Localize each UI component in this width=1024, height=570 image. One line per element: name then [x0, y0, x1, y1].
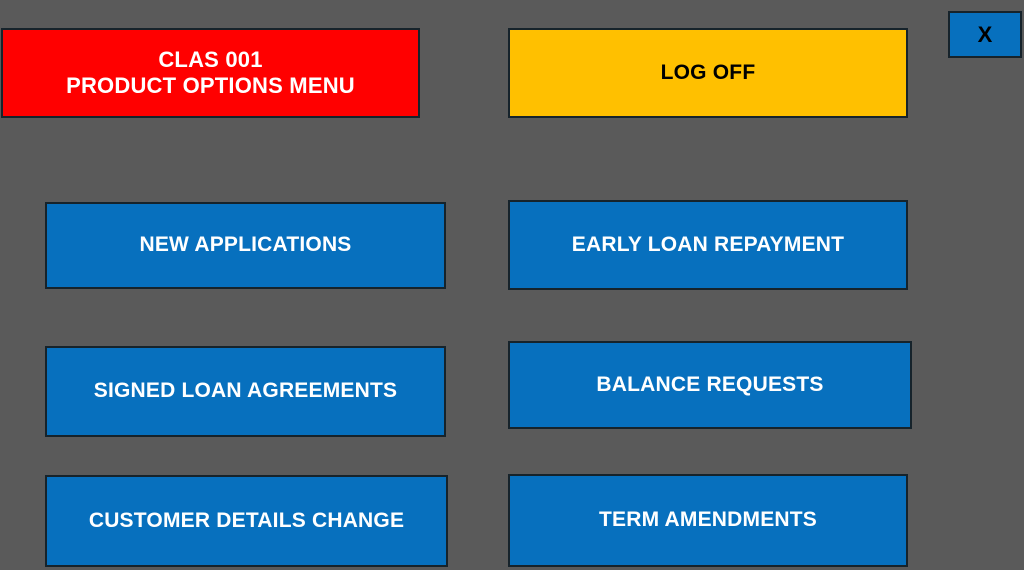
close-button[interactable]: X: [948, 11, 1022, 58]
menu-button-label: CUSTOMER DETAILS CHANGE: [89, 509, 404, 534]
menu-button-label: BALANCE REQUESTS: [596, 373, 823, 398]
menu-button-early-loan-repayment[interactable]: EARLY LOAN REPAYMENT: [508, 200, 908, 290]
product-options-menu-screen: CLAS 001 PRODUCT OPTIONS MENU LOG OFF X …: [0, 0, 1024, 570]
screen-code-label: CLAS 001: [158, 47, 262, 73]
menu-button-label: NEW APPLICATIONS: [139, 233, 351, 258]
menu-button-balance-requests[interactable]: BALANCE REQUESTS: [508, 341, 912, 429]
menu-button-label: SIGNED LOAN AGREEMENTS: [94, 379, 397, 404]
menu-button-customer-details-change[interactable]: CUSTOMER DETAILS CHANGE: [45, 475, 448, 567]
menu-button-term-amendments[interactable]: TERM AMENDMENTS: [508, 474, 908, 567]
close-icon: X: [978, 22, 993, 48]
screen-title-label: PRODUCT OPTIONS MENU: [66, 73, 355, 99]
menu-button-label: TERM AMENDMENTS: [599, 508, 817, 533]
menu-button-new-applications[interactable]: NEW APPLICATIONS: [45, 202, 446, 289]
log-off-button[interactable]: LOG OFF: [508, 28, 908, 118]
log-off-label: LOG OFF: [661, 61, 756, 86]
menu-button-label: EARLY LOAN REPAYMENT: [572, 233, 844, 258]
screen-title-button[interactable]: CLAS 001 PRODUCT OPTIONS MENU: [1, 28, 420, 118]
menu-button-signed-loan-agreements[interactable]: SIGNED LOAN AGREEMENTS: [45, 346, 446, 437]
